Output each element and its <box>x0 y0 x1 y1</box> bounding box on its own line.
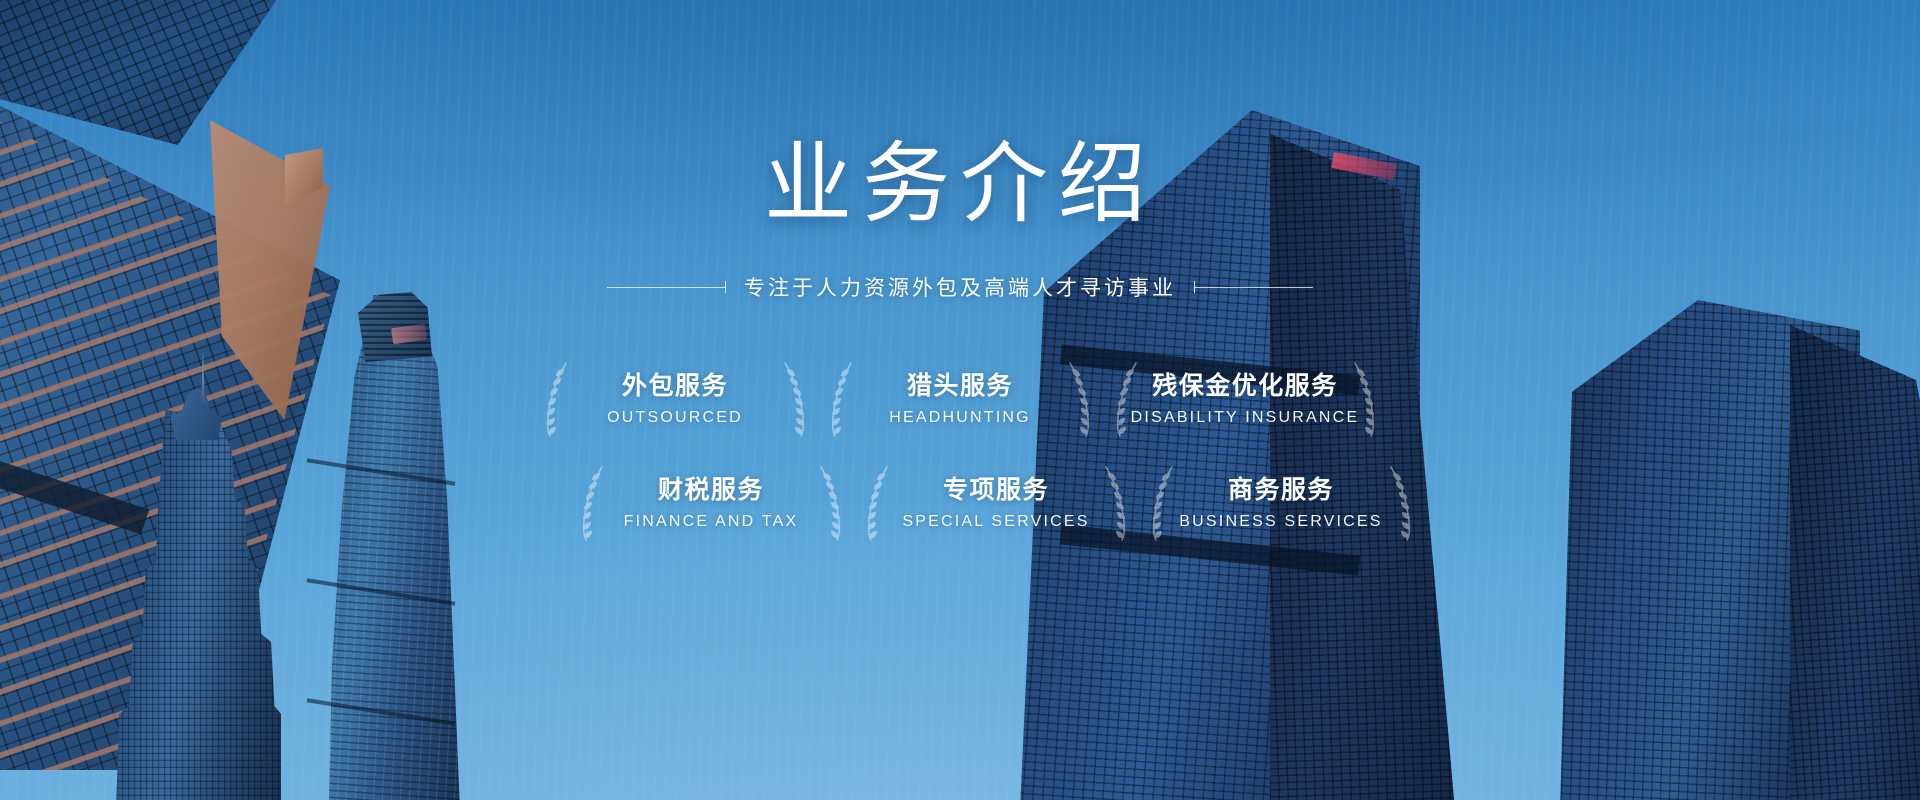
page-subtitle: 专注于人力资源外包及高端人才寻访事业 <box>744 272 1176 302</box>
laurel-branch-icon <box>1063 360 1097 438</box>
laurel-branch-icon <box>1145 464 1179 542</box>
service-item-finance-and-tax[interactable]: 财税服务 FINANCE AND TAX <box>569 454 854 552</box>
service-name-cn: 猎头服务 <box>907 371 1013 401</box>
hero-banner: 业务介绍 专注于人力资源外包及高端人才寻访事业 外包服务 OUTSOURCED <box>0 0 1920 800</box>
laurel-branch-icon <box>860 464 894 542</box>
laurel-branch-icon <box>539 360 573 438</box>
service-name-cn: 残保金优化服务 <box>1152 371 1338 401</box>
service-name-en: BUSINESS SERVICES <box>1179 513 1382 531</box>
service-name-cn: 专项服务 <box>943 475 1049 505</box>
laurel-branch-icon <box>1384 464 1418 542</box>
service-item-special-services[interactable]: 专项服务 SPECIAL SERVICES <box>854 454 1139 552</box>
service-grid: 外包服务 OUTSOURCED 猎头服务 HEADHUNTING <box>533 350 1388 552</box>
service-name-cn: 外包服务 <box>622 371 728 401</box>
rule-line <box>607 287 725 288</box>
rule-line <box>1195 287 1313 288</box>
service-name-cn: 财税服务 <box>658 475 764 505</box>
subtitle-rule-right <box>1194 281 1313 293</box>
laurel-branch-icon <box>824 360 858 438</box>
laurel-branch-icon <box>1099 464 1133 542</box>
service-item-business-services[interactable]: 商务服务 BUSINESS SERVICES <box>1139 454 1424 552</box>
service-item-outsourced[interactable]: 外包服务 OUTSOURCED <box>533 350 818 448</box>
rule-cap <box>725 281 726 293</box>
service-name-en: HEADHUNTING <box>889 409 1031 427</box>
service-item-disability-insurance[interactable]: 残保金优化服务 DISABILITY INSURANCE <box>1103 350 1388 448</box>
subtitle-row: 专注于人力资源外包及高端人才寻访事业 <box>607 272 1313 302</box>
laurel-branch-icon <box>814 464 848 542</box>
service-name-en: OUTSOURCED <box>607 409 743 427</box>
service-name-en: SPECIAL SERVICES <box>902 513 1089 531</box>
hero-content: 业务介绍 专注于人力资源外包及高端人才寻访事业 外包服务 OUTSOURCED <box>0 0 1920 800</box>
service-item-headhunting[interactable]: 猎头服务 HEADHUNTING <box>818 350 1103 448</box>
service-name-cn: 商务服务 <box>1228 475 1334 505</box>
service-name-en: FINANCE AND TAX <box>624 513 799 531</box>
subtitle-rule-left <box>607 281 726 293</box>
page-title: 业务介绍 <box>764 140 1156 228</box>
laurel-branch-icon <box>575 464 609 542</box>
laurel-branch-icon <box>778 360 812 438</box>
service-name-en: DISABILITY INSURANCE <box>1131 409 1360 427</box>
